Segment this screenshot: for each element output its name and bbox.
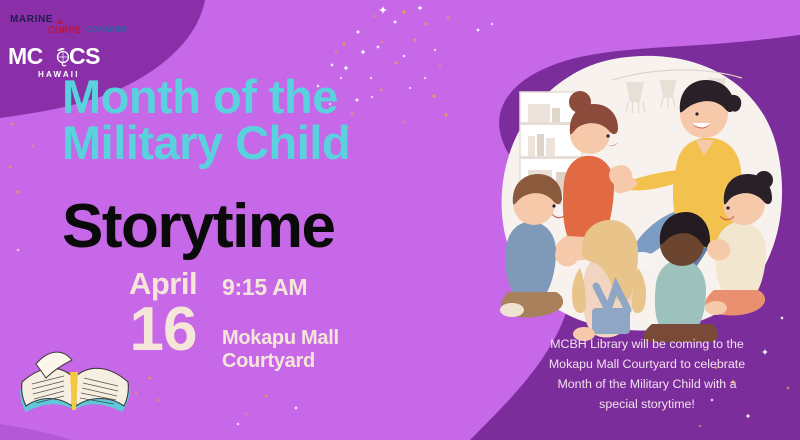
headline-line-2: Military Child [62,120,482,166]
description-line-2: Mokapu Mall Courtyard to celebrate [512,354,782,374]
mccs-acronym-right: CS [69,43,100,69]
marine-corps-community-services-logo: MARINE CORPS COMMUNITY [8,10,128,36]
mccs-acronym-left: MC [8,43,43,69]
corps-wordmark: CORPS [48,25,81,35]
event-description: MCBH Library will be coming to the Mokap… [512,334,782,414]
event-time: 9:15 AM [222,276,422,299]
headline-line-1: Month of the [62,74,482,120]
logo-block: MARINE CORPS COMMUNITY MC CS HAWAII [8,10,138,78]
headline-group: Month of the Military Child [62,74,482,165]
description-line-4: special storytime! [512,394,782,414]
event-info-block: 9:15 AM Mokapu Mall Courtyard [222,276,422,373]
event-venue: Mokapu Mall Courtyard [222,327,422,373]
marine-wordmark: MARINE [10,14,53,25]
mccs-location: HAWAII [38,70,80,79]
description-line-1: MCBH Library will be coming to the [512,334,782,354]
community-wordmark: COMMUNITY [86,25,128,34]
event-venue-line-2: Courtyard [222,350,422,373]
feature-title: Storytime [62,196,334,258]
description-line-3: Month of the Military Child with a [512,374,782,394]
event-venue-line-1: Mokapu Mall [222,327,422,350]
storytime-reading-circle-illustration [492,52,792,342]
mccs-hawaii-logo: MC CS HAWAII [8,42,128,78]
event-day: 16 [118,301,208,360]
promotional-flyer: MARINE CORPS COMMUNITY MC CS HAWAII [0,0,800,440]
event-date-block: April 16 [118,268,208,360]
eagle-globe-anchor-emblem [57,48,69,66]
